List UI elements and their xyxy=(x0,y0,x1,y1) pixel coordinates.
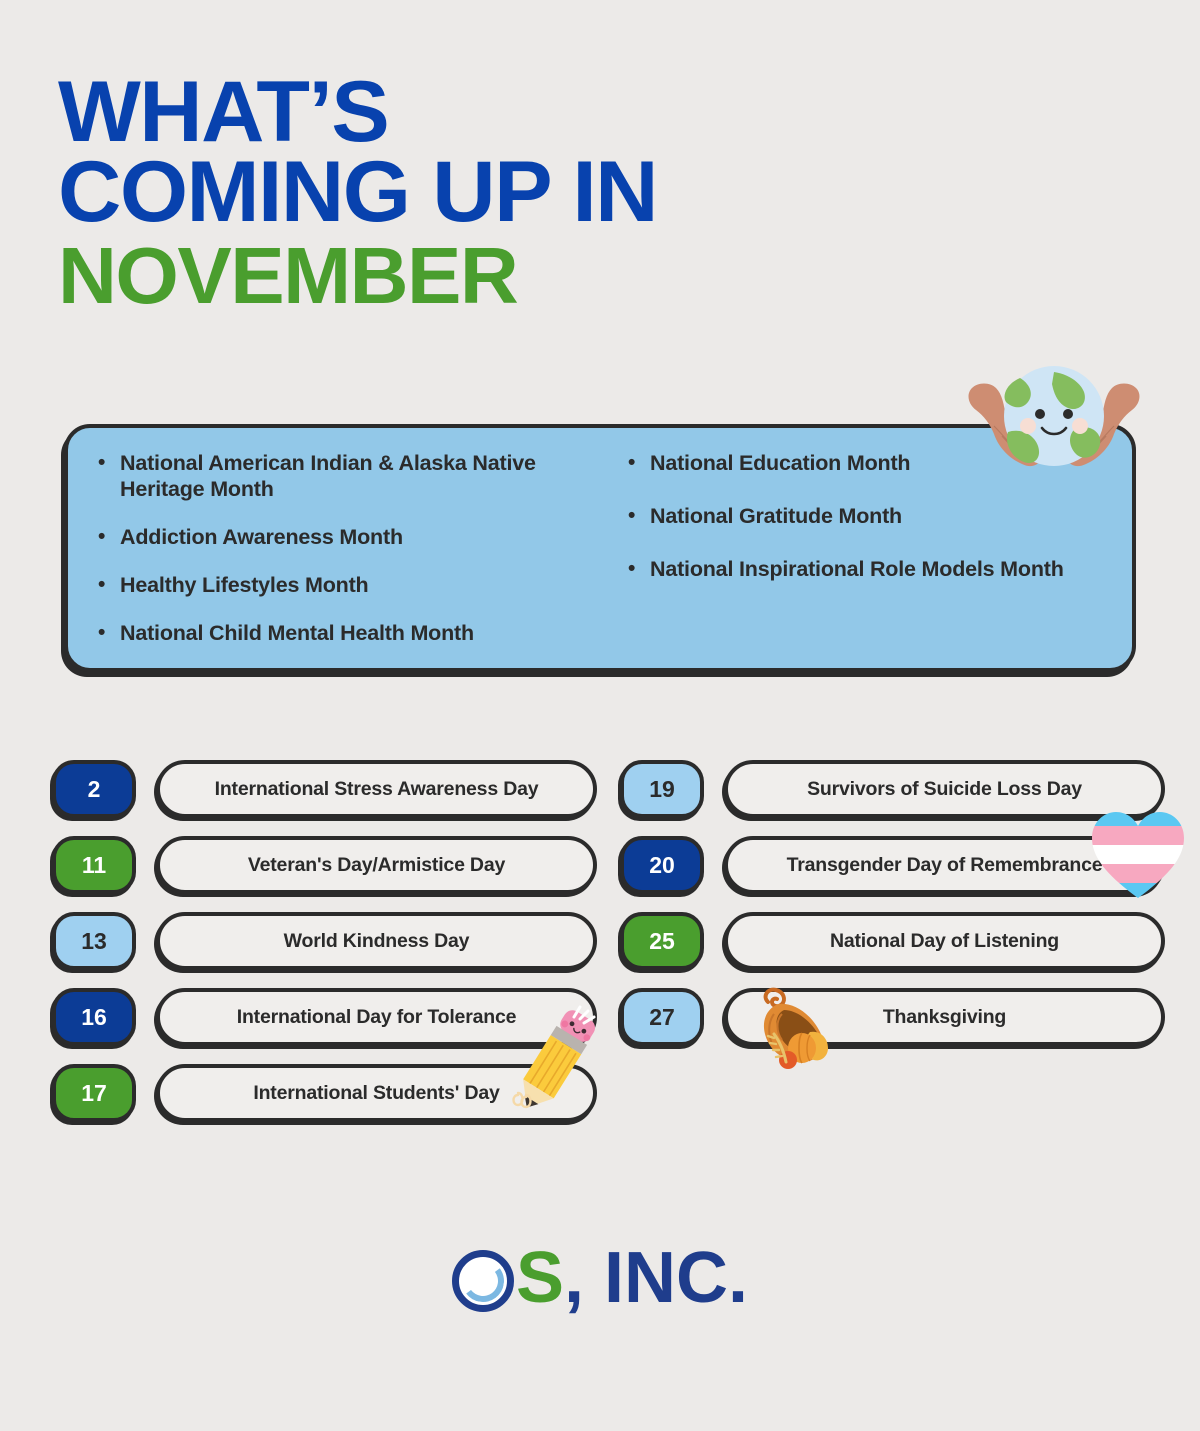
daily-observances-section: 2 International Stress Awareness Day 11 … xyxy=(0,758,1200,1138)
date-badge: 19 xyxy=(620,760,704,818)
list-item: • Healthy Lifestyles Month xyxy=(98,572,600,598)
page-title: WHAT’S COMING UP IN NOVEMBER xyxy=(58,72,958,316)
bullet-icon: • xyxy=(98,524,120,550)
list-item[interactable]: 20 Transgender Day of Remembrance xyxy=(620,834,1165,896)
date-badge-number: 13 xyxy=(81,928,107,955)
bullet-icon: • xyxy=(98,450,120,476)
date-badge: 25 xyxy=(620,912,704,970)
list-item[interactable]: 11 Veteran's Day/Armistice Day xyxy=(52,834,597,896)
observance-pill[interactable]: International Stress Awareness Day xyxy=(156,760,597,818)
observance-label: Veteran's Day/Armistice Day xyxy=(248,854,505,877)
observance-pill[interactable]: International Day for Tolerance xyxy=(156,988,597,1046)
title-line-1: WHAT’S xyxy=(58,72,976,152)
monthly-observances-box: • National American Indian & Alaska Nati… xyxy=(64,424,1136,672)
observance-pill[interactable]: National Day of Listening xyxy=(724,912,1165,970)
bullet-icon: • xyxy=(628,503,650,529)
observance-label: World Kindness Day xyxy=(284,930,470,953)
date-badge-number: 27 xyxy=(649,1004,675,1031)
list-item-label: Healthy Lifestyles Month xyxy=(120,572,600,598)
date-badge-number: 17 xyxy=(81,1080,107,1107)
date-badge: 13 xyxy=(52,912,136,970)
list-item[interactable]: 25 National Day of Listening xyxy=(620,910,1165,972)
list-item-label: National American Indian & Alaska Native… xyxy=(120,450,600,502)
poster-canvas: WHAT’S COMING UP IN NOVEMBER • National … xyxy=(0,0,1200,1431)
bullet-icon: • xyxy=(98,620,120,646)
date-badge-number: 11 xyxy=(82,852,106,879)
observance-label: Thanksgiving xyxy=(883,1006,1006,1029)
list-item[interactable]: 13 World Kindness Day xyxy=(52,910,597,972)
logo-text-inc: , INC. xyxy=(564,1238,748,1318)
bullet-icon: • xyxy=(628,556,650,582)
observance-pill[interactable]: Veteran's Day/Armistice Day xyxy=(156,836,597,894)
observance-pill[interactable]: World Kindness Day xyxy=(156,912,597,970)
observance-pill[interactable]: Survivors of Suicide Loss Day xyxy=(724,760,1165,818)
list-item[interactable]: 16 International Day for Tolerance xyxy=(52,986,597,1048)
list-item[interactable]: 2 International Stress Awareness Day xyxy=(52,758,597,820)
list-item-label: National Education Month xyxy=(650,450,1106,476)
title-line-2: COMING UP IN xyxy=(58,152,976,232)
monthly-observances-right-column: • National Education Month • National Gr… xyxy=(600,450,1106,650)
observance-pill[interactable]: Thanksgiving xyxy=(724,988,1165,1046)
date-badge: 20 xyxy=(620,836,704,894)
logo-o-mark xyxy=(452,1246,516,1316)
date-badge: 27 xyxy=(620,988,704,1046)
list-item: • National Child Mental Health Month xyxy=(98,620,600,646)
list-item[interactable]: 27 Thanksgiving xyxy=(620,986,1165,1048)
date-badge: 2 xyxy=(52,760,136,818)
list-item: • National Gratitude Month xyxy=(628,503,1106,529)
date-badge: 16 xyxy=(52,988,136,1046)
bullet-icon: • xyxy=(628,450,650,476)
date-badge-number: 19 xyxy=(649,776,675,803)
date-badge: 17 xyxy=(52,1064,136,1122)
list-item: • National American Indian & Alaska Nati… xyxy=(98,450,600,502)
date-badge-number: 16 xyxy=(81,1004,107,1031)
title-line-3-month: NOVEMBER xyxy=(58,236,976,316)
observance-label: International Students' Day xyxy=(253,1082,499,1105)
list-item: • National Inspirational Role Models Mon… xyxy=(628,556,1106,582)
observance-label: Survivors of Suicide Loss Day xyxy=(807,778,1082,801)
list-item-label: National Inspirational Role Models Month xyxy=(650,556,1106,582)
company-logo: S, INC. xyxy=(0,1238,1200,1318)
daily-observances-left-column: 2 International Stress Awareness Day 11 … xyxy=(52,758,597,1138)
date-badge-number: 20 xyxy=(649,852,675,879)
bullet-icon: • xyxy=(98,572,120,598)
list-item-label: National Child Mental Health Month xyxy=(120,620,600,646)
list-item[interactable]: 19 Survivors of Suicide Loss Day xyxy=(620,758,1165,820)
observance-label: International Day for Tolerance xyxy=(237,1006,517,1029)
observance-label: International Stress Awareness Day xyxy=(215,778,539,801)
logo-letter-s: S xyxy=(516,1238,564,1318)
observance-pill[interactable]: International Students' Day xyxy=(156,1064,597,1122)
list-item: • Addiction Awareness Month xyxy=(98,524,600,550)
observance-label: National Day of Listening xyxy=(830,930,1059,953)
list-item: • National Education Month xyxy=(628,450,1106,476)
monthly-observances-left-column: • National American Indian & Alaska Nati… xyxy=(94,450,600,650)
observance-pill[interactable]: Transgender Day of Remembrance xyxy=(724,836,1165,894)
daily-observances-right-column: 19 Survivors of Suicide Loss Day 20 Tran… xyxy=(620,758,1165,1062)
list-item-label: National Gratitude Month xyxy=(650,503,1106,529)
list-item[interactable]: 17 International Students' Day xyxy=(52,1062,597,1124)
list-item-label: Addiction Awareness Month xyxy=(120,524,600,550)
date-badge-number: 25 xyxy=(649,928,675,955)
date-badge-number: 2 xyxy=(88,776,101,803)
date-badge: 11 xyxy=(52,836,136,894)
observance-label: Transgender Day of Remembrance xyxy=(787,854,1103,877)
